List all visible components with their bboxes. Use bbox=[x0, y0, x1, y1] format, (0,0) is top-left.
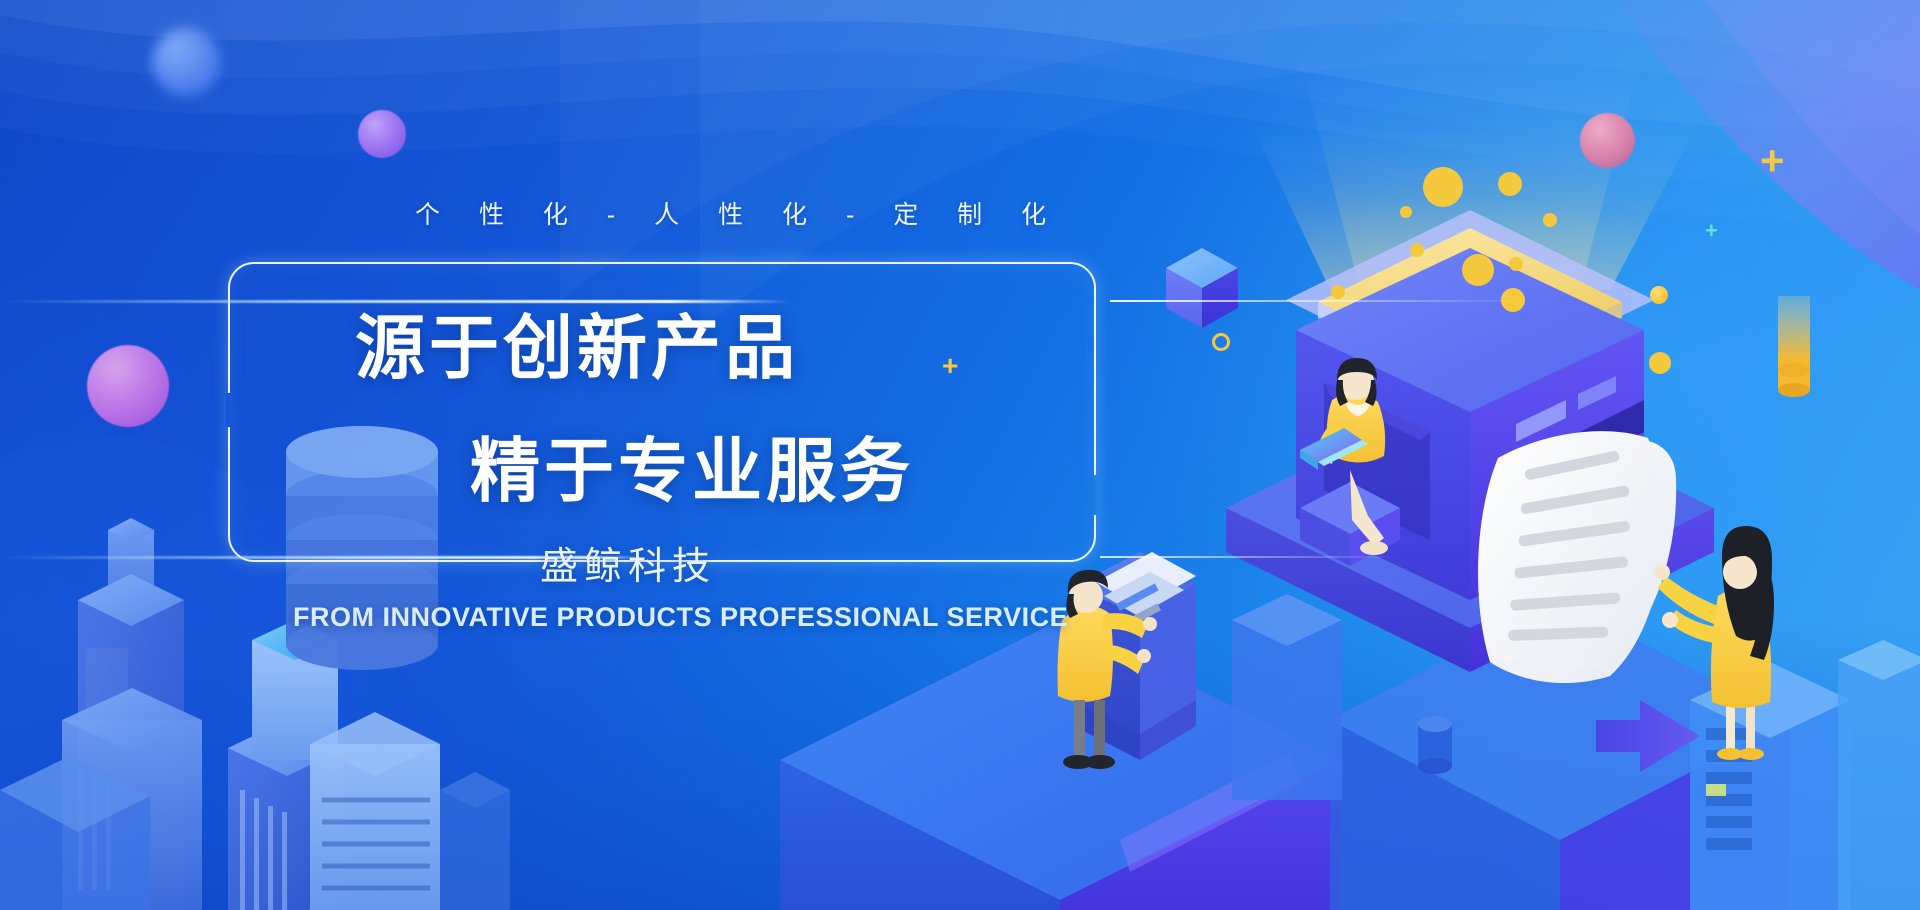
glow-line-top-right bbox=[1110, 300, 1530, 302]
plus-icon-right: + bbox=[1760, 140, 1785, 182]
sphere-pink-right bbox=[1580, 113, 1635, 168]
frame-gap-right bbox=[1091, 475, 1099, 515]
brand-name: 盛鲸科技 bbox=[540, 535, 716, 590]
floating-cube bbox=[1166, 248, 1238, 328]
frame-gap-left bbox=[226, 393, 232, 427]
tagline: 个 性 化 - 人 性 化 - 定 制 化 bbox=[415, 195, 1062, 231]
yellow-cylinder bbox=[1778, 296, 1810, 397]
headline-line-1: 源于创新产品 bbox=[355, 292, 799, 393]
hero-content: 个 性 化 - 人 性 化 - 定 制 化 源于创新产品 精于专业服务 盛鲸科技… bbox=[0, 0, 1140, 910]
dot-yellow-right bbox=[1650, 286, 1668, 304]
right-tower-2 bbox=[1838, 640, 1920, 910]
printed-document bbox=[1478, 431, 1694, 683]
plus-icon-teal: + bbox=[1705, 220, 1718, 242]
subtitle-english: FROM INNOVATIVE PRODUCTS PROFESSIONAL SE… bbox=[293, 602, 1068, 633]
ring-icon bbox=[1212, 333, 1230, 351]
hero-banner: + + + 个 性 化 - 人 性 化 - 定 制 化 源于创新产品 精于专业服… bbox=[0, 0, 1920, 910]
headline-line-2: 精于专业服务 bbox=[470, 415, 914, 516]
mid-building bbox=[1232, 594, 1342, 800]
glow-line-bottom-right bbox=[1100, 556, 1400, 558]
blue-cylinder bbox=[1418, 716, 1452, 774]
